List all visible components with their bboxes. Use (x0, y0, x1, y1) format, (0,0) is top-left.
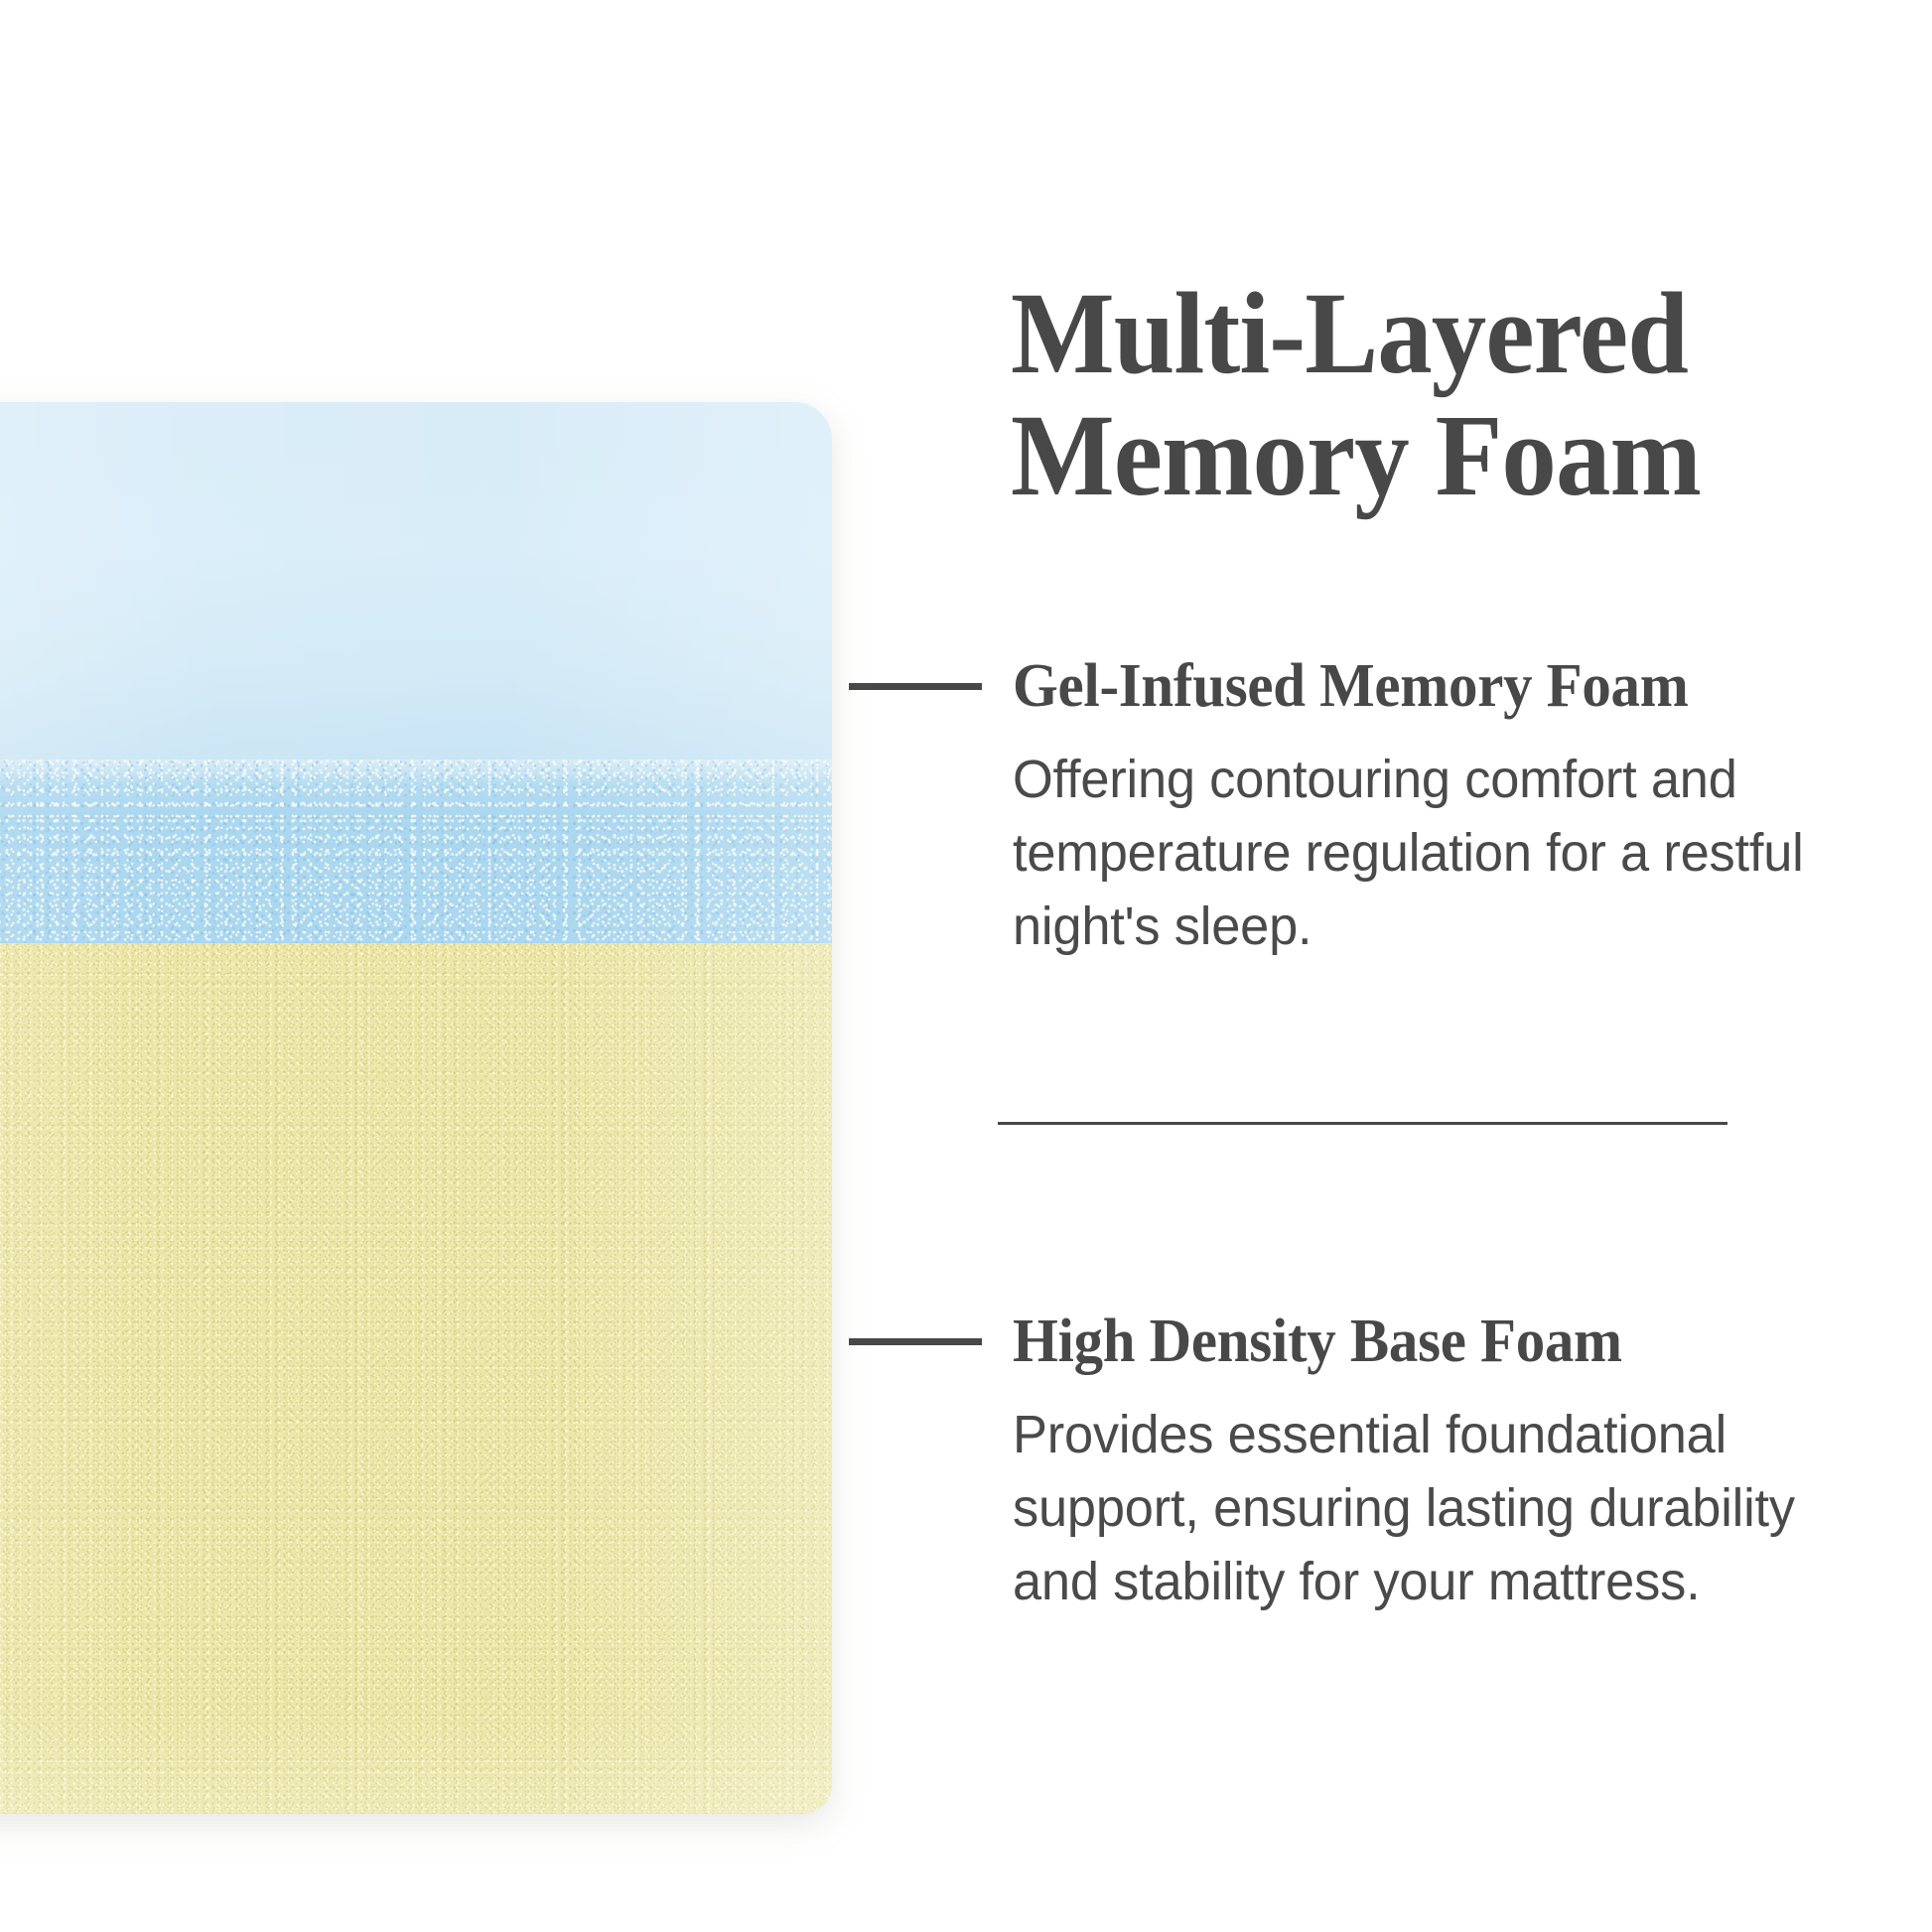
title-line-2: Memory Foam (1011, 395, 1851, 517)
gel-foam-top-face (0, 402, 832, 769)
callout-high-density-base-foam: High Density Base Foam Provides essentia… (849, 1311, 1901, 1672)
dash-marker-icon (849, 1338, 982, 1345)
dash-marker-icon (849, 683, 982, 690)
title-line-1: Multi-Layered (1011, 273, 1851, 395)
callout-heading-row: Gel-Infused Memory Foam (849, 655, 1901, 717)
high-density-base-foam-layer (0, 943, 832, 1814)
callout-body-text: Provides essential foundational support,… (1013, 1398, 1879, 1618)
infographic-canvas: Multi-Layered Memory Foam Gel-Infused Me… (0, 0, 1932, 1932)
callout-body-text: Offering contouring comfort and temperat… (1013, 743, 1879, 963)
callout-heading-row: High Density Base Foam (849, 1311, 1901, 1372)
foam-block-image (0, 402, 832, 1814)
gel-infused-foam-layer (0, 759, 832, 948)
callout-gel-infused-memory-foam: Gel-Infused Memory Foam Offering contour… (849, 655, 1901, 1017)
page-title: Multi-Layered Memory Foam (1011, 273, 1851, 516)
callout-heading: Gel-Infused Memory Foam (1013, 655, 1688, 717)
section-divider (998, 1122, 1727, 1125)
callout-heading: High Density Base Foam (1013, 1311, 1622, 1372)
